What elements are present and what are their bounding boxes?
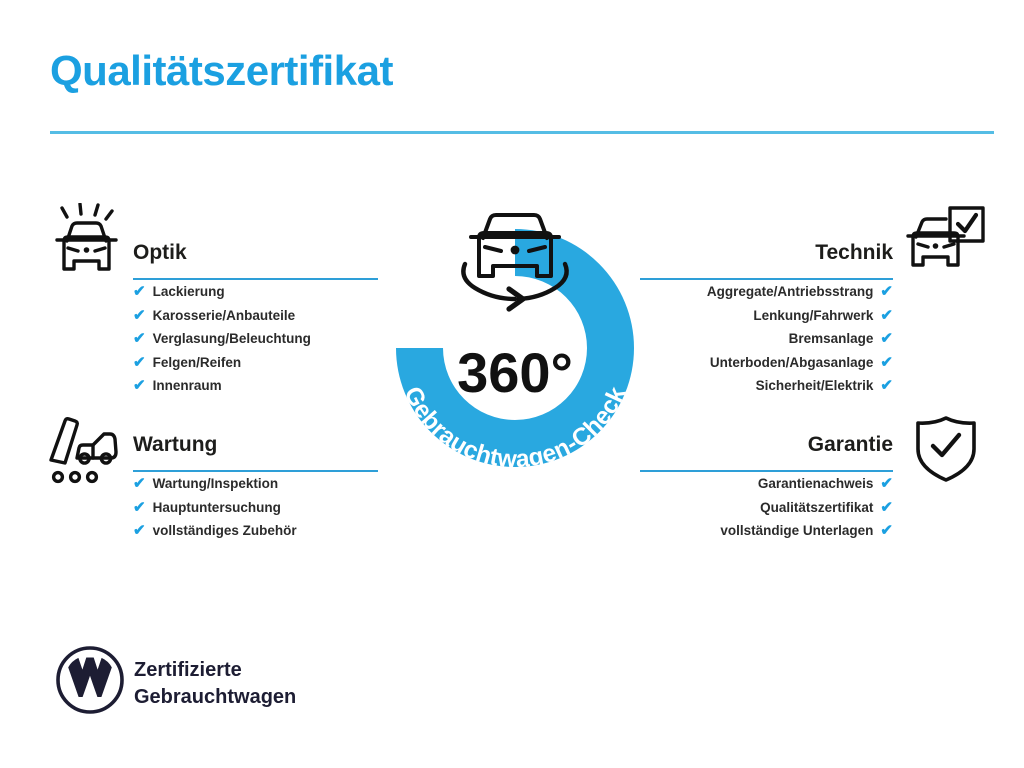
list-item-label: Innenraum	[153, 374, 222, 398]
list-item-label: Wartung/Inspektion	[153, 472, 279, 496]
list-item: Sicherheit/Elektrik✔	[640, 374, 893, 398]
list-item-label: Verglasung/Beleuchtung	[153, 327, 311, 351]
badge-value: 360°	[457, 341, 573, 404]
list-item-label: Aggregate/Antriebsstrang	[707, 280, 874, 304]
list-item-label: vollständiges Zubehör	[153, 519, 297, 543]
check-icon: ✔	[880, 378, 893, 393]
check-icon: ✔	[133, 331, 146, 346]
section-underline-optik	[133, 278, 378, 280]
section-garantie: GarantieGarantienachweis✔Qualitätszertif…	[640, 430, 893, 543]
check-icon: ✔	[133, 378, 146, 393]
section-title-wartung: Wartung	[133, 430, 378, 460]
section-title-optik: Optik	[133, 238, 378, 268]
list-item-label: Sicherheit/Elektrik	[756, 374, 874, 398]
car-checkbox-icon	[906, 203, 986, 277]
section-underline-garantie	[640, 470, 893, 472]
check-icon: ✔	[880, 355, 893, 370]
check-icon: ✔	[880, 523, 893, 538]
list-item: Aggregate/Antriebsstrang✔	[640, 280, 893, 304]
section-title-garantie: Garantie	[640, 430, 893, 460]
list-item-label: Lackierung	[153, 280, 225, 304]
check-icon: ✔	[133, 523, 146, 538]
list-item: ✔Innenraum	[133, 374, 378, 398]
checklist-optik: ✔Lackierung✔Karosserie/Anbauteile✔Vergla…	[133, 280, 378, 398]
check-icon: ✔	[133, 308, 146, 323]
check-icon: ✔	[133, 284, 146, 299]
list-item: Garantienachweis✔	[640, 472, 893, 496]
list-item-label: Unterboden/Abgasanlage	[710, 351, 874, 375]
footer-text: Zertifizierte Gebrauchtwagen	[134, 657, 296, 711]
list-item-label: Felgen/Reifen	[153, 351, 242, 375]
section-technik: TechnikAggregate/Antriebsstrang✔Lenkung/…	[640, 238, 893, 398]
list-item: ✔Hauptuntersuchung	[133, 496, 378, 520]
list-item-label: Bremsanlage	[789, 327, 874, 351]
title-divider	[50, 131, 994, 134]
list-item-label: Karosserie/Anbauteile	[153, 304, 296, 328]
check-icon: ✔	[880, 476, 893, 491]
list-item-label: Qualitätszertifikat	[760, 496, 873, 520]
footer-line-2: Gebrauchtwagen	[134, 684, 296, 711]
check-icon: ✔	[880, 500, 893, 515]
list-item-label: vollständige Unterlagen	[720, 519, 873, 543]
section-wartung: Wartung✔Wartung/Inspektion✔Hauptuntersuc…	[133, 430, 378, 543]
list-item-label: Hauptuntersuchung	[153, 496, 281, 520]
list-item: Unterboden/Abgasanlage✔	[640, 351, 893, 375]
list-item: ✔Verglasung/Beleuchtung	[133, 327, 378, 351]
checklist-garantie: Garantienachweis✔Qualitätszertifikat✔vol…	[640, 472, 893, 543]
section-underline-wartung	[133, 470, 378, 472]
list-item-label: Garantienachweis	[758, 472, 874, 496]
list-item: ✔Lackierung	[133, 280, 378, 304]
list-item-label: Lenkung/Fahrwerk	[753, 304, 873, 328]
shield-check-icon	[912, 414, 980, 484]
car-shine-icon	[46, 203, 124, 277]
checklist-technik: Aggregate/Antriebsstrang✔Lenkung/Fahrwer…	[640, 280, 893, 398]
list-item: ✔Felgen/Reifen	[133, 351, 378, 375]
vw-logo	[55, 645, 125, 715]
check-icon: ✔	[133, 476, 146, 491]
360-degree-badge: Gebrauchtwagen-Check 360°	[372, 196, 658, 488]
list-item: ✔Karosserie/Anbauteile	[133, 304, 378, 328]
list-item: ✔Wartung/Inspektion	[133, 472, 378, 496]
list-item: ✔vollständiges Zubehör	[133, 519, 378, 543]
footer-line-1: Zertifizierte	[134, 657, 296, 684]
section-underline-technik	[640, 278, 893, 280]
section-optik: Optik✔Lackierung✔Karosserie/Anbauteile✔V…	[133, 238, 378, 398]
list-item: vollständige Unterlagen✔	[640, 519, 893, 543]
check-icon: ✔	[880, 308, 893, 323]
check-icon: ✔	[133, 500, 146, 515]
page-title: Qualitätszertifikat	[50, 48, 393, 94]
section-title-technik: Technik	[640, 238, 893, 268]
check-icon: ✔	[880, 331, 893, 346]
list-item: Qualitätszertifikat✔	[640, 496, 893, 520]
checklist-wartung: ✔Wartung/Inspektion✔Hauptuntersuchung✔vo…	[133, 472, 378, 543]
list-item: Bremsanlage✔	[640, 327, 893, 351]
list-item: Lenkung/Fahrwerk✔	[640, 304, 893, 328]
car-lift-icon	[46, 414, 124, 488]
check-icon: ✔	[133, 355, 146, 370]
check-icon: ✔	[880, 284, 893, 299]
